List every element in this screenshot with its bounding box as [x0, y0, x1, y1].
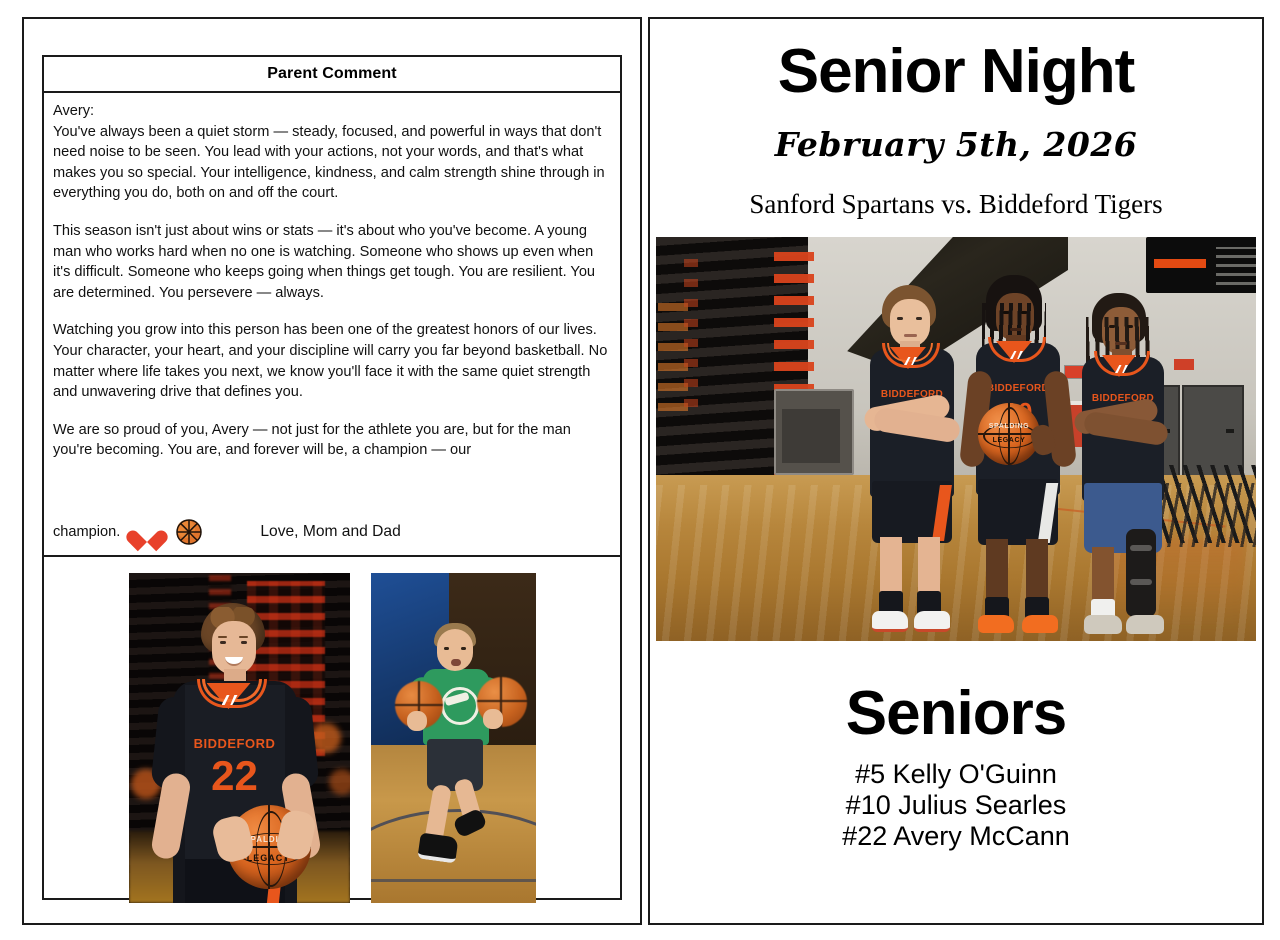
child-shorts — [427, 739, 483, 791]
right-page: Senior Night February 5th, 2026 Sanford … — [648, 17, 1264, 925]
parent-comment-body: Avery: You've always been a quiet storm … — [44, 93, 620, 557]
comment-closing-word: champion. — [53, 524, 120, 540]
court-baseline — [371, 879, 536, 882]
red-heart-icon — [134, 519, 160, 545]
jersey-number: 22 — [187, 755, 283, 797]
player-shoe-left — [1084, 615, 1122, 634]
player-leg-right — [1026, 539, 1048, 605]
left-photo-cell: BIDDEFORD 22 SPALDING LEGACY — [44, 557, 620, 900]
child-eye-left — [444, 647, 449, 650]
player-brow-right — [239, 636, 248, 638]
knee-brace — [1126, 529, 1156, 617]
matchup-label: Sanford Spartans vs. Biddeford Tigers — [650, 189, 1262, 220]
senior-list-item-2: #10 Julius Searles — [650, 790, 1262, 821]
basketball-brand: SPALDING — [984, 423, 1034, 430]
player-shoe-right — [914, 611, 950, 632]
senior-player-22: BIDDEFORD 22 — [852, 285, 972, 641]
player-leg-left — [880, 537, 902, 599]
child-eye-right — [461, 647, 466, 650]
comment-paragraph-4: We are so proud of you, Avery — not just… — [53, 420, 608, 461]
player-shoe-left — [978, 615, 1014, 633]
parent-comment-table: Parent Comment Avery: You've always been… — [42, 55, 622, 900]
basketball-model: LEGACY — [984, 437, 1034, 444]
senior-list-item-3: #22 Avery McCann — [650, 821, 1262, 852]
comment-salutation: Avery: — [53, 101, 608, 122]
comment-paragraph-2: This season isn't just about wins or sta… — [53, 221, 608, 303]
player-brow-left — [218, 636, 227, 638]
player-eye-left — [897, 317, 903, 320]
bleacher-rail-secondary — [684, 247, 698, 407]
page-title: Senior Night — [650, 37, 1262, 107]
door-handle-right — [1226, 429, 1234, 433]
player-leg-left — [986, 539, 1008, 605]
child-shoe-left — [417, 832, 458, 863]
senior-list-item-1: #5 Kelly O'Guinn — [650, 759, 1262, 790]
comment-signature: Love, Mom and Dad — [260, 523, 400, 541]
senior-player-5: BIDDEFORD 5 — [1062, 293, 1182, 641]
comment-paragraph-3: Watching you grow into this person has b… — [53, 320, 608, 402]
scoreboard-text-rows — [1216, 247, 1256, 285]
player-shoe-left — [872, 611, 908, 632]
player-eye-right — [1127, 325, 1133, 328]
player-eye-right — [1021, 311, 1027, 314]
shirt-logo-icon — [441, 687, 479, 725]
childhood-dribbling-photo — [371, 573, 536, 903]
wall-mat-inner — [782, 409, 840, 463]
seniors-list: #5 Kelly O'Guinn #10 Julius Searles #22 … — [650, 759, 1262, 852]
senior-player-10: BIDDEFORD 10 SPALDING LEGACY — [956, 275, 1078, 641]
event-date: February 5th, 2026 — [650, 125, 1262, 164]
seniors-heading: Seniors — [650, 679, 1262, 749]
player-mouth — [1115, 342, 1127, 345]
player-head — [890, 299, 930, 347]
player-mouth — [1010, 328, 1022, 331]
player-eye-left — [1003, 311, 1009, 314]
player-eye-left — [220, 641, 226, 644]
player-eye-right — [241, 641, 247, 644]
senior-night-document: Parent Comment Avery: You've always been… — [0, 0, 1280, 940]
jersey-team-name: BIDDEFORD — [187, 736, 283, 751]
comment-paragraph-1: You've always been a quiet storm — stead… — [53, 122, 608, 204]
child-mouth — [451, 659, 461, 666]
player-mouth — [904, 334, 917, 337]
player-eye-left — [1109, 325, 1115, 328]
left-page: Parent Comment Avery: You've always been… — [22, 17, 642, 925]
team-seniors-photo: BIDDEFORD 22 — [656, 237, 1256, 641]
player-portrait-photo: BIDDEFORD 22 SPALDING LEGACY — [129, 573, 350, 903]
player-leg-right — [918, 537, 940, 599]
child-hand-right — [483, 709, 503, 729]
parent-comment-title: Parent Comment — [267, 65, 396, 83]
comment-signoff-row: champion. — [53, 519, 608, 545]
player-face — [212, 621, 256, 675]
player-shoe-right — [1022, 615, 1058, 633]
player-eye-right — [916, 317, 922, 320]
parent-comment-header: Parent Comment — [44, 57, 620, 93]
basketball-icon — [176, 519, 202, 545]
scoreboard-red-panel — [1154, 259, 1206, 268]
child-hand-left — [407, 711, 427, 731]
player-shoe-right — [1126, 615, 1164, 634]
